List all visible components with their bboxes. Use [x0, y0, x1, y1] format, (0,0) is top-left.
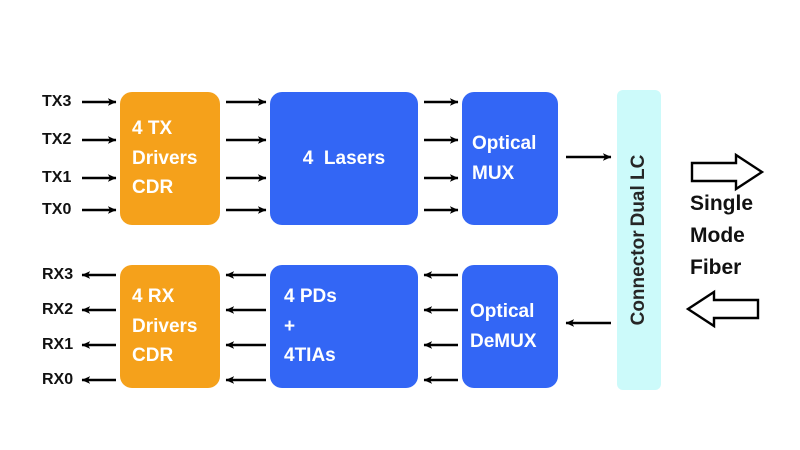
single-mode-fiber-line-2: Mode: [690, 220, 794, 252]
single-mode-fiber-line-1: Single: [690, 188, 794, 220]
block-optical-demux-line-1: Optical: [470, 297, 534, 326]
block-optical-demux: Optical DeMUX: [462, 265, 558, 388]
rx-port-label-rx1: RX1: [42, 336, 94, 354]
dual-lc-connector-line-1: Dual LC: [628, 155, 650, 227]
block-photodetectors-tias-line-3: 4TIAs: [284, 341, 336, 370]
block-tx-drivers-cdr: 4 TX Drivers CDR: [120, 92, 220, 225]
single-mode-fiber-label: Single Mode Fiber: [690, 188, 794, 284]
tx-port-label-tx1: TX1: [42, 169, 94, 187]
optical-transceiver-diagram: TX3 TX2 TX1 TX0 RX3 RX2 RX1 RX0 4 TX Dri…: [0, 0, 800, 450]
block-optical-mux-line-1: Optical: [472, 129, 536, 158]
block-tx-drivers-cdr-line-3: CDR: [132, 173, 173, 202]
tx-port-label-tx0: TX0: [42, 201, 94, 219]
block-optical-mux-line-2: MUX: [472, 159, 514, 188]
rx-port-label-rx3: RX3: [42, 266, 94, 284]
rx-port-label-rx0: RX0: [42, 371, 94, 389]
block-arrow-right-icon: [692, 155, 762, 189]
block-tx-drivers-cdr-line-1: 4 TX: [132, 114, 172, 143]
dual-lc-connector-label: Dual LC Connector: [617, 90, 661, 390]
block-photodetectors-tias-line-1: 4 PDs: [284, 282, 337, 311]
block-photodetectors-tias-line-2: +: [284, 312, 295, 341]
block-rx-drivers-cdr-line-3: CDR: [132, 341, 173, 370]
block-rx-drivers-cdr-line-2: Drivers: [132, 312, 198, 341]
rx-port-label-rx2: RX2: [42, 301, 94, 319]
block-rx-drivers-cdr-line-1: 4 RX: [132, 282, 174, 311]
block-optical-mux: Optical MUX: [462, 92, 558, 225]
block-tx-drivers-cdr-line-2: Drivers: [132, 144, 198, 173]
block-rx-drivers-cdr: 4 RX Drivers CDR: [120, 265, 220, 388]
single-mode-fiber-line-3: Fiber: [690, 252, 794, 284]
tx-port-label-tx3: TX3: [42, 93, 94, 111]
block-lasers-line-1: 4 Lasers: [303, 144, 385, 173]
block-dual-lc-connector: Dual LC Connector: [617, 90, 661, 390]
dual-lc-connector-line-2: Connector: [628, 230, 650, 325]
block-photodetectors-tias: 4 PDs + 4TIAs: [270, 265, 418, 388]
block-lasers: 4 Lasers: [270, 92, 418, 225]
block-optical-demux-line-2: DeMUX: [470, 327, 537, 356]
block-arrow-left-icon: [688, 292, 758, 326]
tx-port-label-tx2: TX2: [42, 131, 94, 149]
